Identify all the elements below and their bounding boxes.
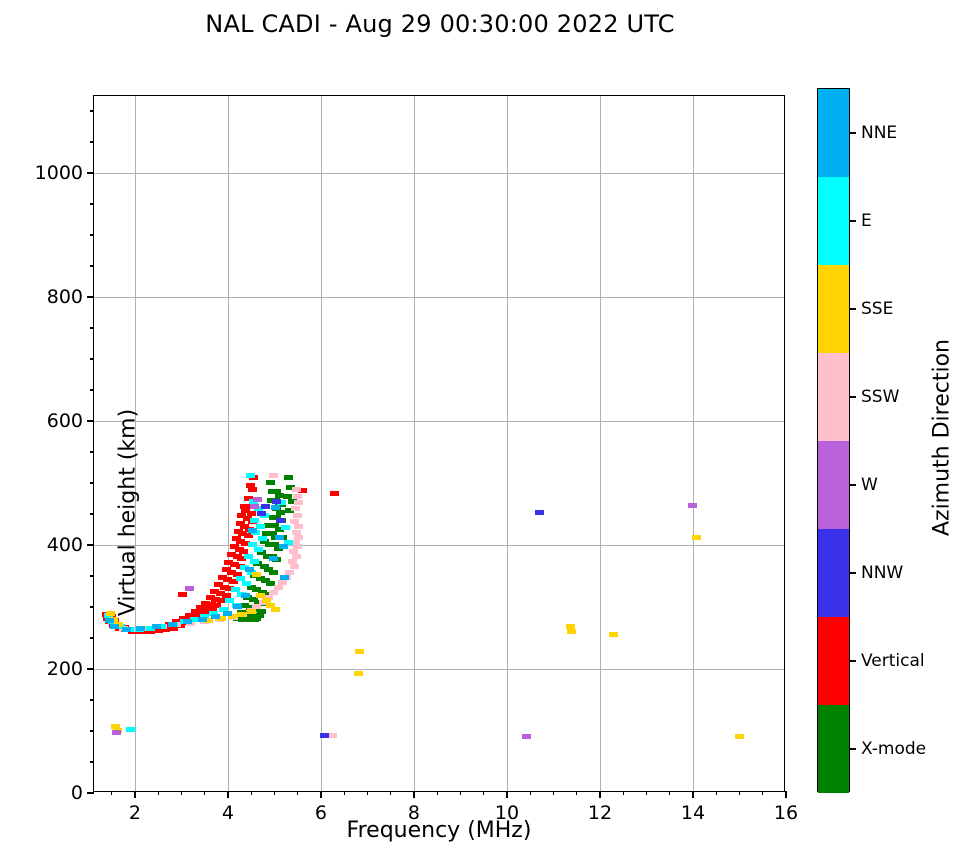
x-tick bbox=[599, 791, 601, 798]
colorbar-tick bbox=[849, 132, 856, 133]
x-minor-tick bbox=[437, 791, 438, 795]
data-point-sse bbox=[237, 612, 246, 617]
data-point-e bbox=[256, 524, 265, 529]
y-tick-label: 1000 bbox=[35, 162, 83, 184]
data-point-nne bbox=[223, 611, 232, 616]
x-tick bbox=[134, 791, 136, 798]
colorbar-segment-x-mode[interactable] bbox=[818, 705, 849, 793]
x-minor-tick bbox=[274, 791, 275, 795]
x-minor-tick bbox=[344, 791, 345, 795]
x-minor-tick bbox=[530, 791, 531, 795]
data-point-w bbox=[253, 497, 262, 502]
data-point-w bbox=[185, 586, 194, 591]
y-minor-tick bbox=[90, 203, 94, 204]
data-canvas bbox=[94, 96, 784, 791]
x-minor-tick bbox=[181, 791, 182, 795]
data-point-ssw bbox=[294, 500, 303, 505]
x-tick bbox=[413, 791, 415, 798]
y-minor-tick bbox=[90, 234, 94, 235]
y-tick-label: 0 bbox=[71, 782, 83, 804]
colorbar-segment-nnw[interactable] bbox=[818, 529, 849, 617]
data-point-nne bbox=[245, 567, 254, 572]
x-minor-tick bbox=[158, 791, 159, 795]
y-tick-label: 600 bbox=[47, 410, 83, 432]
data-point-x-mode bbox=[269, 570, 278, 575]
data-point-ssw bbox=[292, 487, 301, 492]
x-minor-tick bbox=[204, 791, 205, 795]
y-minor-tick bbox=[90, 575, 94, 576]
colorbar-label-nnw: NNW bbox=[861, 563, 903, 583]
y-tick bbox=[87, 544, 94, 546]
data-point-nne bbox=[241, 593, 250, 598]
colorbar-tick bbox=[849, 660, 856, 661]
x-minor-tick bbox=[390, 791, 391, 795]
data-point-nnw bbox=[535, 510, 544, 515]
data-point-e bbox=[242, 581, 251, 586]
data-point-sse bbox=[111, 724, 120, 729]
data-point-nnw bbox=[261, 504, 270, 509]
colorbar-tick bbox=[849, 308, 856, 309]
data-point-sse bbox=[735, 734, 744, 739]
x-minor-tick bbox=[646, 791, 647, 795]
y-minor-tick bbox=[90, 265, 94, 266]
data-point-sse bbox=[609, 632, 618, 637]
data-point-sse bbox=[252, 572, 261, 577]
colorbar-label-x-mode: X-mode bbox=[861, 739, 926, 759]
data-point-sse bbox=[354, 671, 363, 676]
colorbar-label-sse: SSE bbox=[861, 299, 893, 319]
x-minor-tick bbox=[111, 791, 112, 795]
y-tick-label: 800 bbox=[47, 286, 83, 308]
x-minor-tick bbox=[623, 791, 624, 795]
y-tick bbox=[87, 668, 94, 670]
y-tick-label: 400 bbox=[47, 534, 83, 556]
x-minor-tick bbox=[297, 791, 298, 795]
x-minor-tick bbox=[460, 791, 461, 795]
y-minor-tick bbox=[90, 730, 94, 731]
data-point-e bbox=[250, 518, 259, 523]
colorbar-segment-sse[interactable] bbox=[818, 265, 849, 353]
data-point-ssw bbox=[269, 473, 278, 478]
data-point-vertical bbox=[178, 592, 187, 597]
colorbar-segment-nne[interactable] bbox=[818, 89, 849, 177]
y-minor-tick bbox=[90, 761, 94, 762]
data-point-x-mode bbox=[250, 617, 259, 622]
colorbar-tick bbox=[849, 572, 856, 573]
colorbar-segment-vertical[interactable] bbox=[818, 617, 849, 705]
data-point-ssw bbox=[294, 524, 303, 529]
data-point-ssw bbox=[290, 564, 299, 569]
data-point-w bbox=[250, 504, 259, 509]
x-minor-tick bbox=[553, 791, 554, 795]
x-minor-tick bbox=[576, 791, 577, 795]
gridline-horizontal bbox=[94, 173, 784, 174]
gridline-vertical bbox=[321, 96, 322, 791]
y-minor-tick bbox=[90, 482, 94, 483]
data-point-nnw bbox=[276, 518, 285, 523]
data-point-nne bbox=[233, 604, 242, 609]
data-point-nnw bbox=[257, 511, 266, 516]
colorbar-tick bbox=[849, 484, 856, 485]
colorbar-tick bbox=[849, 396, 856, 397]
x-tick bbox=[320, 791, 322, 798]
data-point-nne bbox=[275, 535, 284, 540]
y-axis-title: Virtual height (km) bbox=[116, 313, 141, 713]
ionogram-figure: NAL CADI - Aug 29 00:30:00 2022 UTC Virt… bbox=[0, 0, 958, 857]
colorbar-tick bbox=[849, 220, 856, 221]
gridline-vertical bbox=[600, 96, 601, 791]
y-minor-tick bbox=[90, 513, 94, 514]
data-point-nne bbox=[248, 528, 257, 533]
colorbar-label-nne: NNE bbox=[861, 123, 897, 143]
data-point-nne bbox=[152, 624, 161, 629]
colorbar-segment-ssw[interactable] bbox=[818, 353, 849, 441]
x-minor-tick bbox=[739, 791, 740, 795]
data-point-e bbox=[126, 727, 135, 732]
x-minor-tick bbox=[716, 791, 717, 795]
data-point-w bbox=[522, 734, 531, 739]
data-point-x-mode bbox=[284, 475, 293, 480]
data-point-vertical bbox=[330, 491, 339, 496]
colorbar[interactable]: NNEESSESSWWNNWVerticalX-mode bbox=[817, 88, 850, 792]
data-point-nne bbox=[105, 618, 114, 623]
y-minor-tick bbox=[90, 141, 94, 142]
y-tick bbox=[87, 172, 94, 174]
y-tick-label: 200 bbox=[47, 658, 83, 680]
data-point-sse bbox=[247, 609, 256, 614]
x-minor-tick bbox=[251, 791, 252, 795]
colorbar-label-w: W bbox=[861, 475, 878, 495]
colorbar-label-vertical: Vertical bbox=[861, 651, 925, 671]
gridline-horizontal bbox=[94, 297, 784, 298]
colorbar-title: Azimuth Direction bbox=[930, 238, 955, 638]
x-minor-tick bbox=[762, 791, 763, 795]
data-point-sse bbox=[106, 611, 115, 616]
y-minor-tick bbox=[90, 358, 94, 359]
page-title: NAL CADI - Aug 29 00:30:00 2022 UTC bbox=[0, 10, 880, 38]
data-point-sse bbox=[355, 649, 364, 654]
colorbar-tick bbox=[849, 748, 856, 749]
data-point-e bbox=[254, 547, 263, 552]
data-point-ssw bbox=[291, 506, 300, 511]
data-point-e bbox=[258, 536, 267, 541]
data-point-ssw bbox=[293, 494, 302, 499]
x-axis-title: Frequency (MHz) bbox=[93, 818, 785, 843]
data-point-nne bbox=[183, 619, 192, 624]
data-point-w bbox=[112, 730, 121, 735]
data-point-sse bbox=[692, 535, 701, 540]
colorbar-segment-w[interactable] bbox=[818, 441, 849, 529]
y-minor-tick bbox=[90, 327, 94, 328]
colorbar-label-e: E bbox=[861, 211, 872, 231]
gridline-vertical bbox=[693, 96, 694, 791]
data-point-ssw bbox=[293, 513, 302, 518]
x-tick bbox=[227, 791, 229, 798]
gridline-vertical bbox=[507, 96, 508, 791]
data-point-nnw bbox=[272, 499, 281, 504]
x-minor-tick bbox=[669, 791, 670, 795]
plot-area: Virtual height (km) 02004006008001000246… bbox=[93, 95, 785, 792]
data-point-nne bbox=[211, 614, 220, 619]
data-point-e bbox=[246, 473, 255, 478]
x-tick bbox=[506, 791, 508, 798]
y-tick bbox=[87, 420, 94, 422]
data-point-w bbox=[688, 503, 697, 508]
data-point-e bbox=[281, 525, 290, 530]
gridline-vertical bbox=[228, 96, 229, 791]
data-point-x-mode bbox=[266, 480, 275, 485]
x-tick bbox=[785, 791, 787, 798]
y-minor-tick bbox=[90, 606, 94, 607]
y-minor-tick bbox=[90, 389, 94, 390]
colorbar-segment-e[interactable] bbox=[818, 177, 849, 265]
data-point-nne bbox=[271, 505, 280, 510]
y-tick bbox=[87, 792, 94, 794]
data-point-sse bbox=[271, 607, 280, 612]
gridline-horizontal bbox=[94, 545, 784, 546]
x-minor-tick bbox=[483, 791, 484, 795]
data-point-nne bbox=[168, 622, 177, 627]
data-point-e bbox=[250, 559, 259, 564]
x-tick bbox=[692, 791, 694, 798]
data-point-nne bbox=[269, 556, 278, 561]
data-point-ssw bbox=[328, 733, 337, 738]
data-point-sse bbox=[567, 629, 576, 634]
y-minor-tick bbox=[90, 110, 94, 111]
data-point-nnw bbox=[320, 733, 329, 738]
x-minor-tick bbox=[367, 791, 368, 795]
y-minor-tick bbox=[90, 699, 94, 700]
data-point-nne bbox=[279, 544, 288, 549]
y-minor-tick bbox=[90, 451, 94, 452]
gridline-horizontal bbox=[94, 421, 784, 422]
y-tick bbox=[87, 296, 94, 298]
data-point-nne bbox=[280, 575, 289, 580]
data-point-vertical bbox=[222, 593, 231, 598]
y-minor-tick bbox=[90, 637, 94, 638]
gridline-vertical bbox=[414, 96, 415, 791]
gridline-horizontal bbox=[94, 669, 784, 670]
colorbar-label-ssw: SSW bbox=[861, 387, 899, 407]
data-point-vertical bbox=[248, 487, 257, 492]
data-point-nne bbox=[198, 617, 207, 622]
